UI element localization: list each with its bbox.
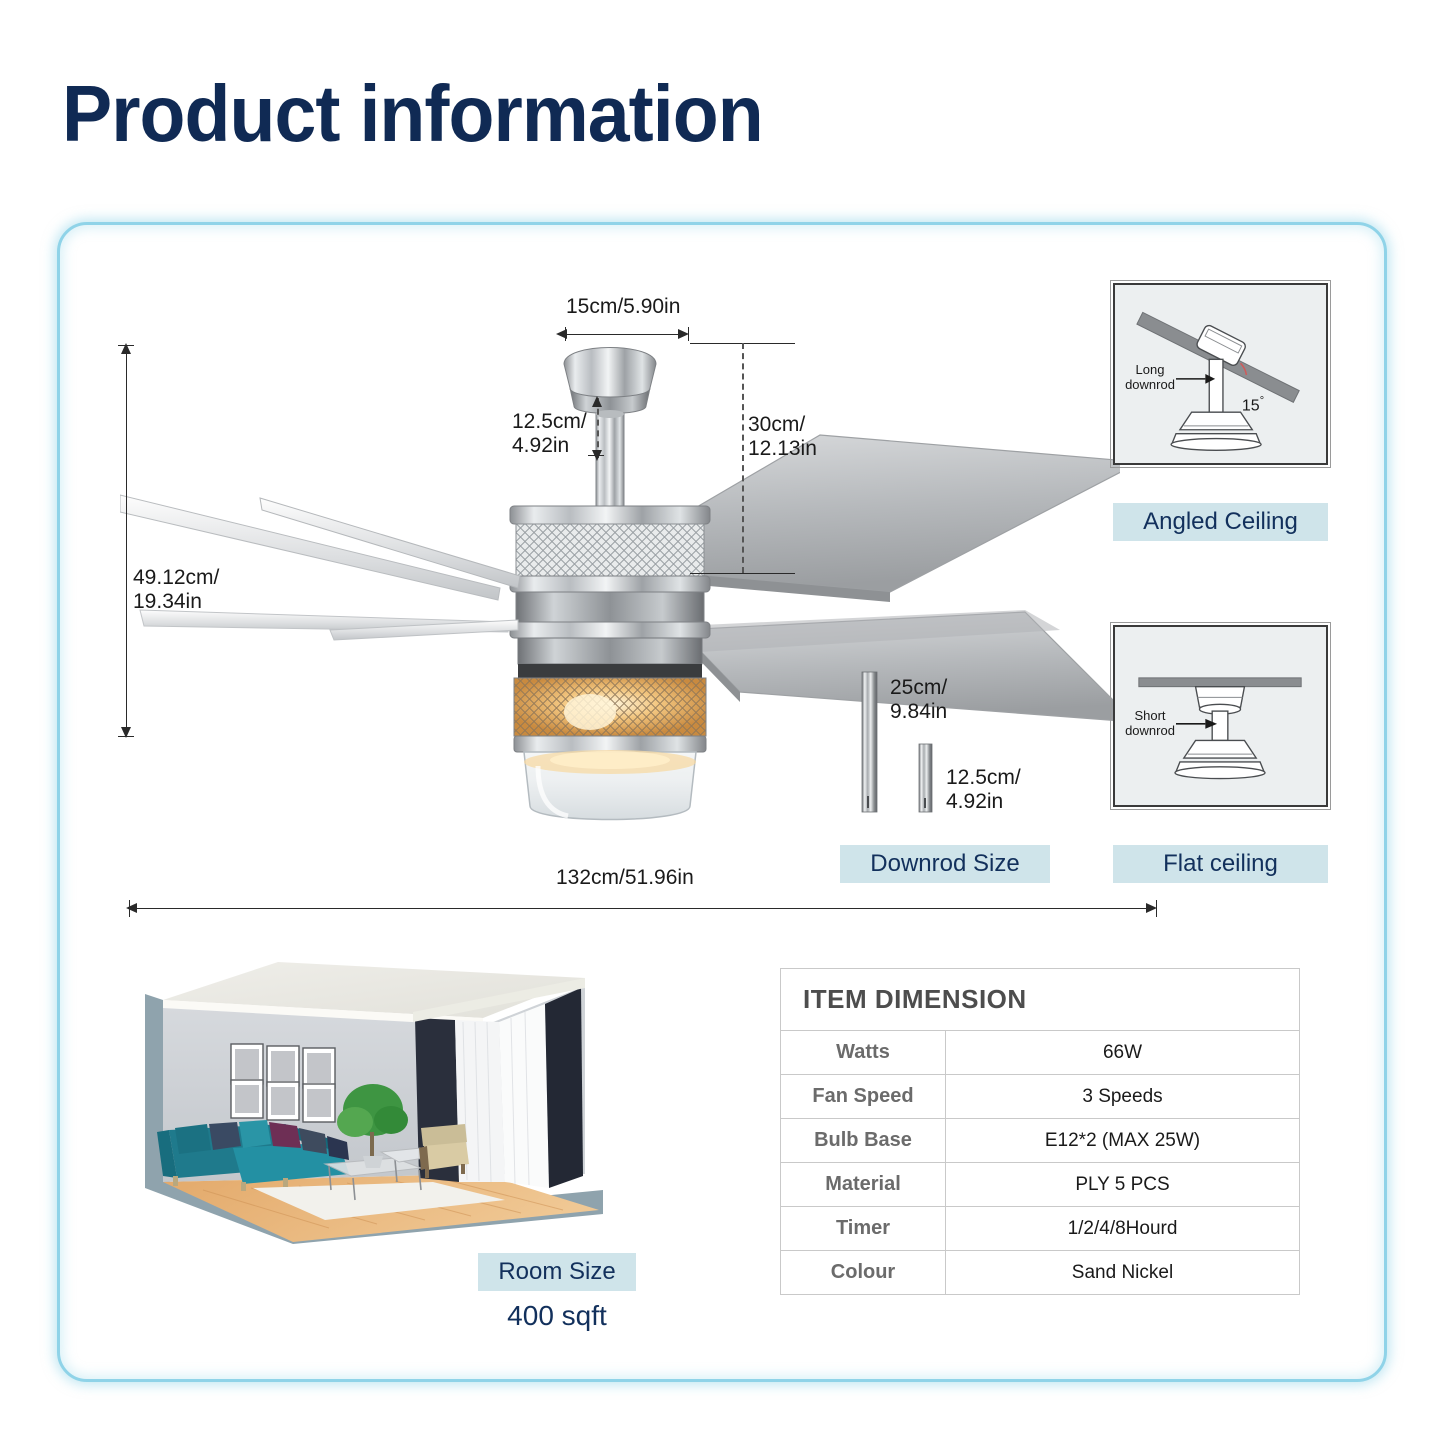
fan-motor-cage-upper bbox=[510, 506, 710, 638]
downrod-size-badge: Downrod Size bbox=[840, 845, 1050, 883]
table-row: Bulb Base E12*2 (MAX 25W) bbox=[781, 1119, 1300, 1163]
row-key-timer: Timer bbox=[781, 1207, 946, 1251]
dim-blade-span-label: 132cm/51.96in bbox=[556, 866, 694, 890]
item-dimension-table: ITEM DIMENSION Watts 66W Fan Speed 3 Spe… bbox=[780, 968, 1300, 1295]
room-size-badge: Room Size bbox=[478, 1253, 636, 1291]
fan-light-cage bbox=[514, 638, 706, 752]
page-title: Product information bbox=[62, 68, 763, 160]
table-row: Timer 1/2/4/8Hourd bbox=[781, 1207, 1300, 1251]
row-value-timer: 1/2/4/8Hourd bbox=[946, 1207, 1300, 1251]
room-size-value: 400 sqft bbox=[478, 1300, 636, 1332]
product-information-page: Product information bbox=[0, 0, 1445, 1445]
angled-ceiling-badge: Angled Ceiling bbox=[1113, 503, 1328, 541]
flat-ceiling-diagram: Short downrod bbox=[1113, 625, 1328, 807]
row-value-bulb-base: E12*2 (MAX 25W) bbox=[946, 1119, 1300, 1163]
row-key-watts: Watts bbox=[781, 1031, 946, 1075]
short-downrod-label: Short downrod bbox=[1119, 709, 1181, 739]
table-row: Material PLY 5 PCS bbox=[781, 1163, 1300, 1207]
room-size-illustration bbox=[133, 952, 603, 1252]
table-row: Watts 66W bbox=[781, 1031, 1300, 1075]
row-value-watts: 66W bbox=[946, 1031, 1300, 1075]
long-downrod-label: Long downrod bbox=[1121, 363, 1179, 393]
row-key-fan-speed: Fan Speed bbox=[781, 1075, 946, 1119]
row-value-material: PLY 5 PCS bbox=[946, 1163, 1300, 1207]
row-value-colour: Sand Nickel bbox=[946, 1251, 1300, 1295]
table-header-row: ITEM DIMENSION bbox=[781, 969, 1300, 1031]
dim-total-height-label: 49.12cm/ 19.34in bbox=[133, 566, 219, 613]
dim-blade-drop-label: 30cm/ 12.13in bbox=[748, 413, 817, 460]
angle-value-label: 15° bbox=[1233, 377, 1273, 416]
dim-canopy-width-label: 15cm/5.90in bbox=[566, 295, 680, 319]
row-key-bulb-base: Bulb Base bbox=[781, 1119, 946, 1163]
downrod-long-label: 25cm/ 9.84in bbox=[890, 676, 947, 723]
table-row: Colour Sand Nickel bbox=[781, 1251, 1300, 1295]
angled-ceiling-diagram: Long downrod 15° bbox=[1113, 283, 1328, 465]
row-value-fan-speed: 3 Speeds bbox=[946, 1075, 1300, 1119]
table-header-cell: ITEM DIMENSION bbox=[781, 969, 1300, 1031]
fan-glass-dome bbox=[524, 750, 696, 820]
dim-canopy-height-label: 12.5cm/ 4.92in bbox=[512, 410, 587, 457]
table-row: Fan Speed 3 Speeds bbox=[781, 1075, 1300, 1119]
downrod-short-label: 12.5cm/ 4.92in bbox=[946, 766, 1021, 813]
flat-ceiling-badge: Flat ceiling bbox=[1113, 845, 1328, 883]
gallery-frames bbox=[231, 1044, 335, 1122]
row-key-colour: Colour bbox=[781, 1251, 946, 1295]
row-key-material: Material bbox=[781, 1163, 946, 1207]
